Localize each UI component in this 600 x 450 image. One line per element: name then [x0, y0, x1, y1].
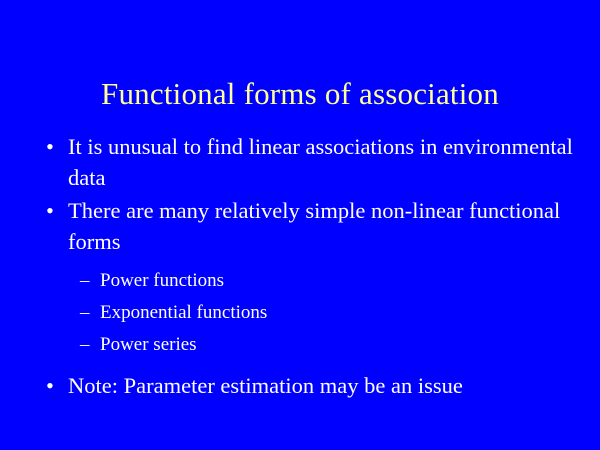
slide-title: Functional forms of association [0, 75, 600, 113]
dash-marker-icon: – [80, 329, 98, 361]
sub-bullet-text: Power series [100, 329, 582, 361]
bullet-text: There are many relatively simple non-lin… [68, 195, 582, 257]
dash-marker-icon: – [80, 265, 98, 297]
bullet-item: • There are many relatively simple non-l… [0, 195, 600, 257]
sub-bullet-text: Exponential functions [100, 297, 582, 329]
sub-bullet-text: Power functions [100, 265, 582, 297]
bullet-item: • Note: Parameter estimation may be an i… [0, 370, 600, 401]
sub-bullet-group: – Power functions – Exponential function… [0, 265, 600, 361]
bullet-text: Note: Parameter estimation may be an iss… [68, 370, 582, 401]
sub-bullet-item: – Power series [0, 329, 600, 361]
bullet-marker-icon: • [46, 370, 62, 401]
presentation-slide: Functional forms of association • It is … [0, 0, 600, 450]
sub-bullet-item: – Power functions [0, 265, 600, 297]
bullet-marker-icon: • [46, 195, 62, 226]
bullet-item: • It is unusual to find linear associati… [0, 131, 600, 193]
slide-body: • It is unusual to find linear associati… [0, 131, 600, 403]
dash-marker-icon: – [80, 297, 98, 329]
sub-bullet-item: – Exponential functions [0, 297, 600, 329]
bullet-marker-icon: • [46, 131, 62, 162]
bullet-text: It is unusual to find linear association… [68, 131, 582, 193]
